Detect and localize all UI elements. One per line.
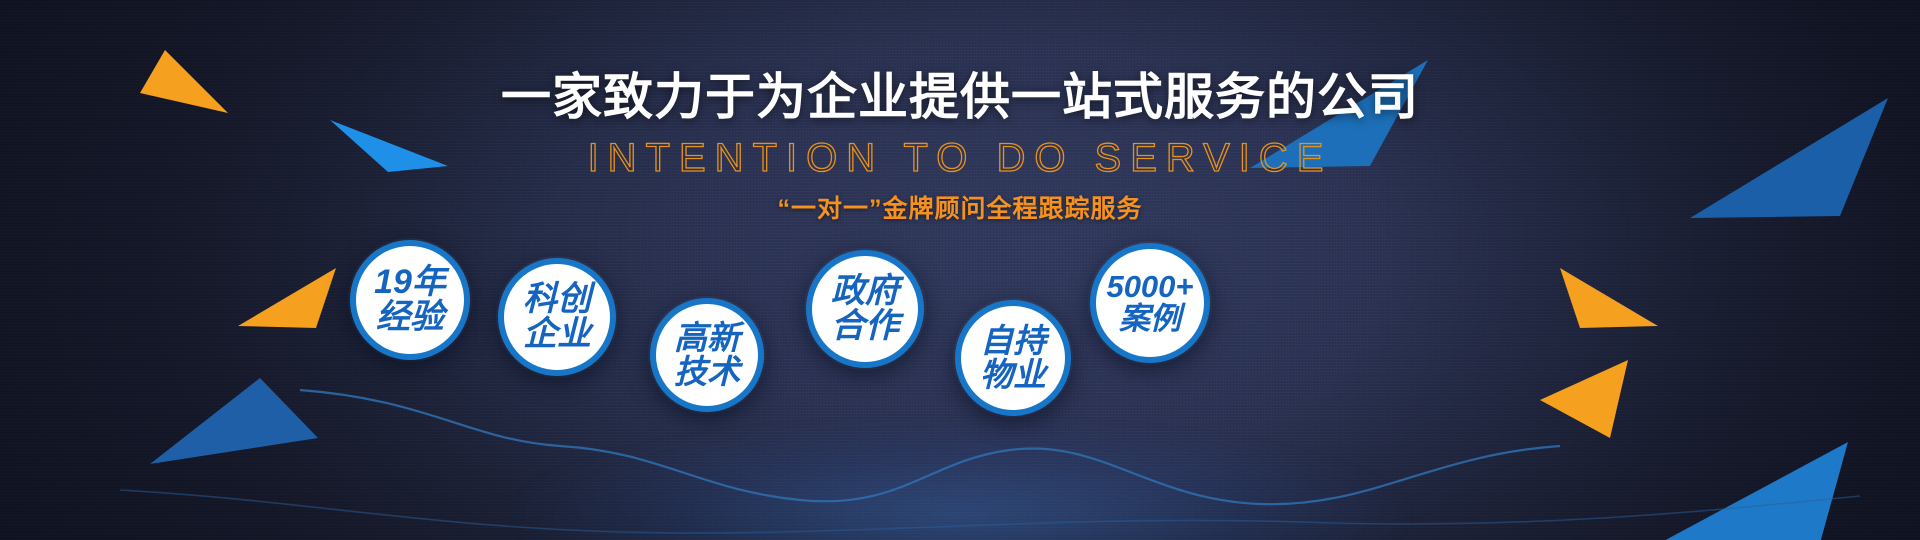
badge-line2: 经验: [376, 300, 444, 335]
badge-line2: 案例: [1119, 303, 1181, 335]
badge-line1: 自持: [980, 324, 1046, 358]
badge-experience[interactable]: 19年经验: [350, 240, 470, 360]
badge-tech-startup[interactable]: 科创企业: [498, 258, 616, 376]
badge-line1: 高新: [674, 321, 740, 355]
badge-high-tech[interactable]: 高新技术: [650, 298, 764, 412]
badge-row: 19年经验科创企业高新技术政府合作自持物业5000+案例: [0, 0, 1920, 540]
badge-line2: 技术: [674, 355, 740, 389]
badge-line1: 科创: [523, 282, 591, 317]
hero-banner: 一家致力于为企业提供一站式服务的公司 INTENTION TO DO SERVI…: [0, 0, 1920, 540]
badge-gov-coop[interactable]: 政府合作: [806, 250, 924, 368]
badge-self-owned-property[interactable]: 自持物业: [955, 300, 1071, 416]
badge-line2: 合作: [831, 309, 899, 344]
badge-line1: 政府: [831, 274, 899, 309]
badge-line2: 物业: [980, 358, 1046, 392]
badge-cases[interactable]: 5000+案例: [1090, 243, 1210, 363]
badge-line1: 5000+: [1106, 271, 1193, 303]
badge-line1: 19年: [374, 265, 446, 300]
badge-line2: 企业: [523, 317, 591, 352]
